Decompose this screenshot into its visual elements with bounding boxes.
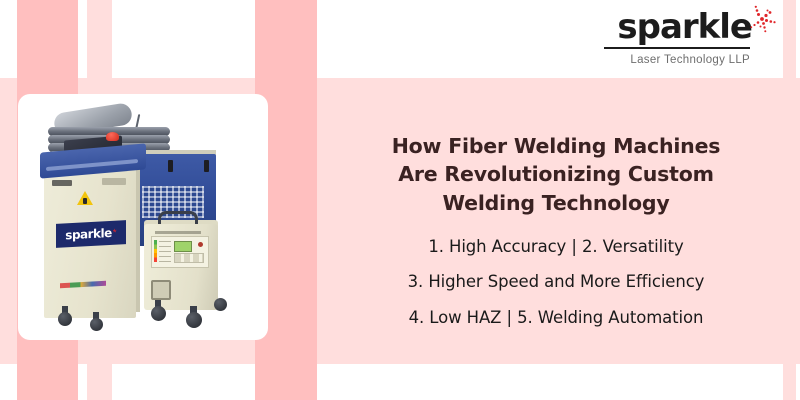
headline-line-1: How Fiber Welding Machines <box>392 134 721 158</box>
welding-machine-illustration: sparkle * <box>18 94 268 340</box>
emergency-stop-button-icon <box>106 132 119 141</box>
decor-stripe-right <box>783 0 796 400</box>
chiller-knob <box>198 242 203 247</box>
headline-line-3: Welding Technology <box>442 191 669 215</box>
list-item: 4. Low HAZ | 5. Welding Automation <box>340 310 772 327</box>
caster-wheel <box>186 312 202 328</box>
feature-list: 1. High Accuracy | 2. Versatility 3. Hig… <box>340 239 772 327</box>
machine-label-right <box>102 178 126 185</box>
list-item: 1. High Accuracy | 2. Versatility <box>340 239 772 256</box>
text-content: How Fiber Welding Machines Are Revolutio… <box>340 132 772 345</box>
promotional-banner: sparkle * sparkle <box>0 0 800 400</box>
chiller-button-row <box>174 253 204 263</box>
chiller-port <box>151 280 171 300</box>
machine-latch <box>168 160 173 172</box>
headline-line-2: Are Revolutionizing Custom <box>398 162 714 186</box>
caster-wheel <box>90 318 103 331</box>
chiller-led-labels <box>159 240 171 262</box>
logo-tagline: Laser Technology LLP <box>596 54 772 66</box>
chiller-led-column <box>154 240 157 262</box>
machine-label-left <box>52 180 72 186</box>
page-title: How Fiber Welding Machines Are Revolutio… <box>340 132 772 217</box>
chiller-lcd-display <box>174 241 192 252</box>
caster-wheel <box>151 306 166 321</box>
brand-logo: sparkle Laser <box>596 10 772 66</box>
machine-badge-spark-icon: * <box>113 227 117 238</box>
list-item: 3. Higher Speed and More Efficiency <box>340 274 772 291</box>
chiller-panel-title <box>155 231 201 234</box>
caster-wheel <box>58 312 72 326</box>
machine-latch <box>204 160 209 172</box>
machine-badge-label: sparkle <box>65 226 111 242</box>
laser-hazard-symbol <box>83 198 87 204</box>
product-image-card: sparkle * <box>18 94 268 340</box>
caster-wheel <box>214 298 227 311</box>
logo-underline <box>604 47 750 49</box>
machine-brand-badge: sparkle * <box>56 220 126 248</box>
sparkle-burst-icon <box>736 4 776 38</box>
